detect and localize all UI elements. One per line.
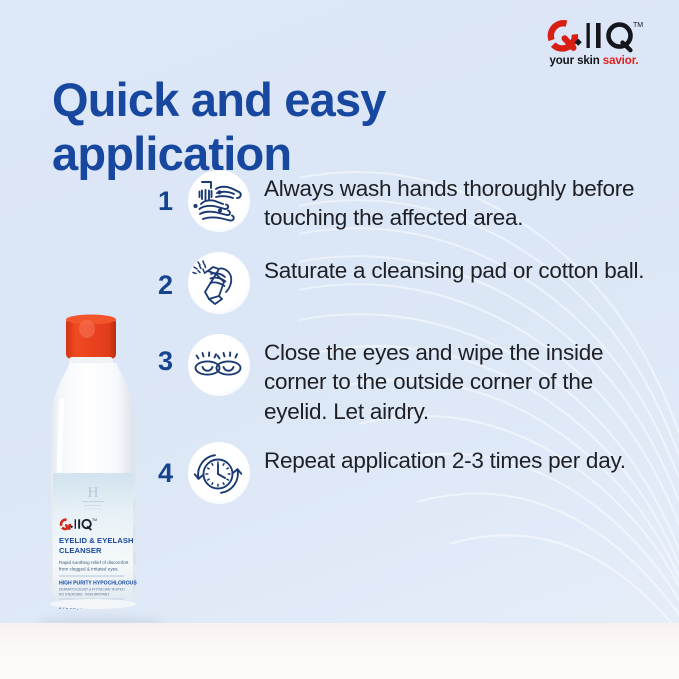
- step-number: 3: [158, 332, 184, 375]
- product-bottle: H TM EYELID & EYELASH: [40, 313, 156, 629]
- q-iq-logo-icon: TM: [531, 18, 657, 54]
- spray-bottle-hand-icon: [184, 250, 252, 318]
- step-number: 4: [158, 440, 184, 487]
- step-number: 1: [158, 168, 184, 215]
- brand-tagline: your skin savior.: [531, 55, 657, 67]
- clock-repeat-icon: [184, 440, 252, 508]
- headline-line-1: Quick and easy: [52, 73, 386, 126]
- step-item: 4: [158, 440, 658, 508]
- svg-text:HIGH PURITY HYPOCHLOROUS: HIGH PURITY HYPOCHLOROUS: [59, 581, 137, 587]
- step-text: Close the eyes and wipe the inside corne…: [264, 332, 658, 426]
- svg-text:CLEANSER: CLEANSER: [59, 546, 102, 555]
- tagline-accent: savior.: [603, 55, 639, 67]
- svg-text:TM: TM: [633, 22, 643, 29]
- step-item: 3: [158, 332, 658, 426]
- svg-text:TM: TM: [92, 518, 97, 522]
- step-item: 1: [158, 168, 658, 236]
- steps-list: 1: [158, 168, 658, 522]
- step-item: 2: [158, 250, 658, 318]
- step-text: Always wash hands thoroughly before touc…: [264, 168, 658, 233]
- surface-shelf: [0, 623, 679, 679]
- brand-logo: TM your skin savior.: [531, 18, 657, 67]
- svg-text:DERMATOLOGIST & PHYSICIAN TEST: DERMATOLOGIST & PHYSICIAN TESTED: [59, 588, 125, 592]
- svg-text:Rapid soothing relief of disco: Rapid soothing relief of discomfort: [59, 560, 129, 565]
- washing-hands-icon: [184, 168, 252, 236]
- svg-text:H: H: [88, 485, 99, 501]
- svg-text:NO STEROIDS · NON-IRRITANT: NO STEROIDS · NON-IRRITANT: [59, 593, 109, 597]
- step-text: Repeat application 2-3 times per day.: [264, 440, 658, 475]
- page-title: Quick and easy application: [52, 73, 492, 180]
- tagline-prefix: your skin: [549, 55, 602, 67]
- svg-text:EYELID & EYELASH: EYELID & EYELASH: [59, 536, 134, 545]
- closed-eyes-icon: [184, 332, 252, 400]
- promo-graphic: TM your skin savior. Quick and easy appl…: [0, 0, 679, 679]
- step-text: Saturate a cleansing pad or cotton ball.: [264, 250, 658, 285]
- svg-text:from clogged & irritated eyes.: from clogged & irritated eyes.: [59, 567, 119, 572]
- step-number: 2: [158, 250, 184, 299]
